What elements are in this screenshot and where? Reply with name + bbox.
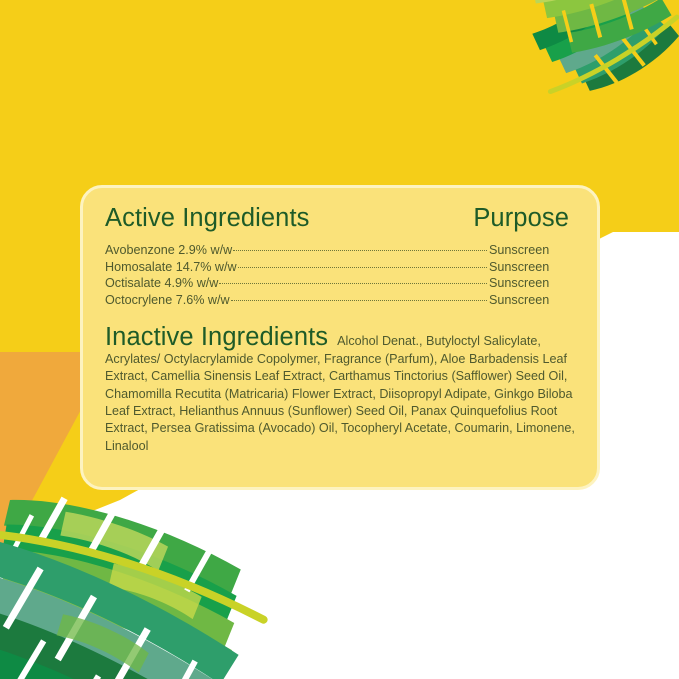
ingredients-label-image: Active Ingredients Purpose Avobenzone 2.… [0, 0, 679, 679]
dot-leader [219, 283, 487, 284]
ingredients-card: Active Ingredients Purpose Avobenzone 2.… [80, 185, 600, 490]
ingredient-name: Avobenzone 2.9% w/w [105, 242, 232, 259]
dot-leader [238, 267, 487, 268]
active-ingredient-row: Octisalate 4.9% w/w Sunscreen [105, 275, 575, 292]
inactive-ingredients-text: Alcohol Denat., Butyloctyl Salicylate, A… [105, 334, 575, 452]
dot-leader [231, 300, 487, 301]
ingredient-purpose: Sunscreen [489, 292, 575, 309]
ingredient-purpose: Sunscreen [489, 242, 575, 259]
ingredient-name: Octocrylene 7.6% w/w [105, 292, 230, 309]
inactive-ingredients-heading: Inactive Ingredients [105, 323, 328, 351]
ingredient-purpose: Sunscreen [489, 275, 575, 292]
ingredient-name: Octisalate 4.9% w/w [105, 275, 218, 292]
purpose-heading: Purpose [473, 204, 569, 233]
ingredient-purpose: Sunscreen [489, 259, 575, 276]
ingredient-name: Homosalate 14.7% w/w [105, 259, 237, 276]
dot-leader [233, 250, 487, 251]
inactive-ingredients-section: Inactive IngredientsAlcohol Denat., Buty… [105, 329, 575, 455]
active-ingredient-row: Homosalate 14.7% w/w Sunscreen [105, 259, 575, 276]
active-ingredient-row: Avobenzone 2.9% w/w Sunscreen [105, 242, 575, 259]
active-ingredient-row: Octocrylene 7.6% w/w Sunscreen [105, 292, 575, 309]
active-ingredients-heading: Active Ingredients [105, 204, 310, 233]
inactive-paragraph: Inactive IngredientsAlcohol Denat., Buty… [105, 329, 575, 455]
active-ingredients-list: Avobenzone 2.9% w/w Sunscreen Homosalate… [105, 242, 575, 308]
card-heading-row: Active Ingredients Purpose [105, 204, 575, 233]
